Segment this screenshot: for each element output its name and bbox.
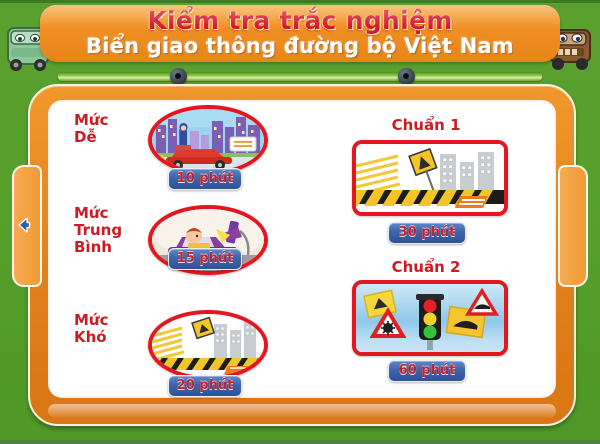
level-thumb-kho[interactable] <box>148 310 268 380</box>
panel-foot-highlight <box>48 404 556 418</box>
standard-label-chuan-2: Chuẩn 2 <box>352 258 500 276</box>
standard-time-chuan-1[interactable]: 30 phút <box>388 222 466 244</box>
level-label-kho-line1: Mức <box>74 312 109 329</box>
app-screen: Kiểm tra trắc nghiệm Biển giao thông đườ… <box>0 0 600 444</box>
level-label-de-line1: Mức <box>74 112 109 129</box>
page-title-line2: Biển giao thông đường bộ Việt Nam <box>40 34 560 58</box>
level-label-de-line2: Dễ <box>74 129 109 146</box>
standard-thumb-chuan-2[interactable] <box>352 280 508 356</box>
level-label-trung-binh: Mức Trung Bình <box>74 205 122 256</box>
standard-thumb-chuan-1[interactable] <box>352 140 508 216</box>
level-label-tb-line3: Bình <box>74 239 122 256</box>
level-thumb-de[interactable] <box>148 105 268 175</box>
level-label-de: Mức Dễ <box>74 112 109 146</box>
green-axle-bar <box>58 72 542 81</box>
bottom-edge-line <box>0 440 600 444</box>
level-label-tb-line2: Trung <box>74 222 122 239</box>
level-time-trung-binh[interactable]: 15 phút <box>168 248 242 270</box>
level-label-tb-line1: Mức <box>74 205 122 222</box>
title-banner: Kiểm tra trắc nghiệm Biển giao thông đườ… <box>40 5 560 62</box>
axle-knob-right <box>398 68 415 85</box>
chevron-left-icon[interactable] <box>14 215 34 235</box>
standard-time-chuan-2[interactable]: 60 phút <box>388 360 466 382</box>
page-title-line1: Kiểm tra trắc nghiệm <box>40 6 560 35</box>
axle-knob-left <box>170 68 187 85</box>
level-time-kho[interactable]: 20 phút <box>168 375 242 397</box>
standard-label-chuan-1: Chuẩn 1 <box>352 116 500 134</box>
level-label-kho-line2: Khó <box>74 329 109 346</box>
next-page-tab[interactable] <box>558 165 588 287</box>
level-time-de[interactable]: 10 phút <box>168 168 242 190</box>
top-edge-line <box>0 0 600 3</box>
level-label-kho: Mức Khó <box>74 312 109 346</box>
